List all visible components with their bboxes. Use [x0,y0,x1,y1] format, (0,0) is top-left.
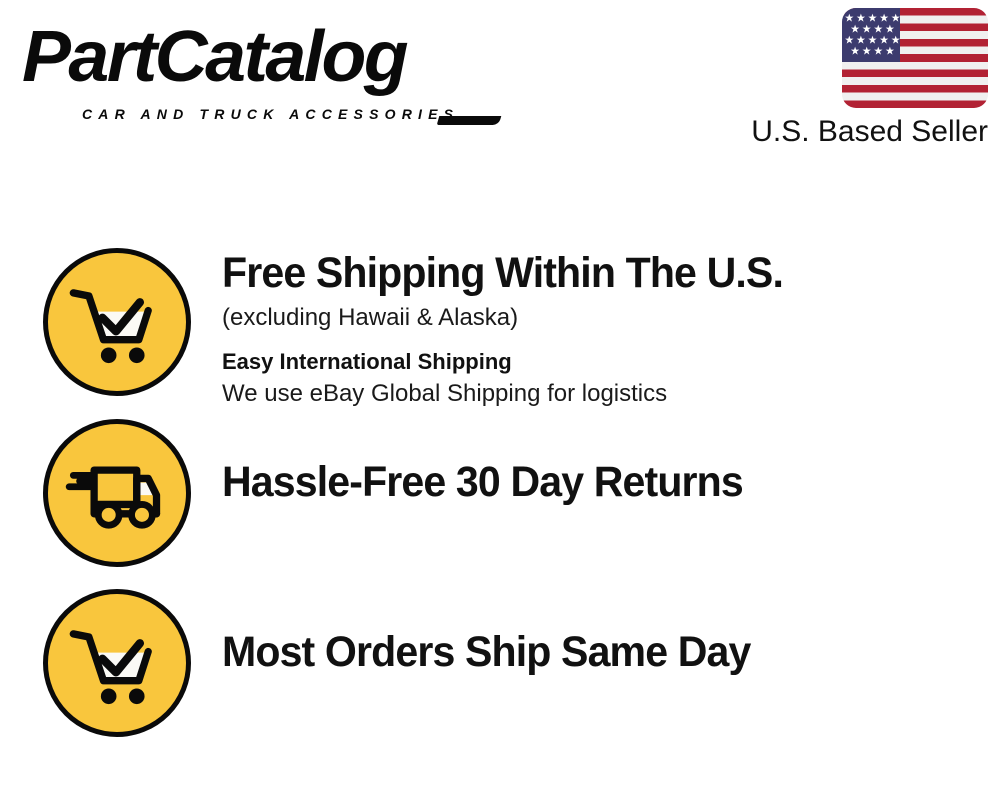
benefit-row: Free Shipping Within The U.S. (excluding… [0,248,1000,420]
benefit-headline: Free Shipping Within The U.S. [222,248,929,298]
benefit-extra-title: Easy International Shipping [222,347,962,377]
benefit-headline: Hassle-Free 30 Day Returns [222,457,929,507]
delivery-truck-icon [43,419,191,567]
logo-swash-decoration [437,116,502,125]
brand-wordmark: PartCatalog [22,14,406,100]
benefit-extra-text: We use eBay Global Shipping for logistic… [222,378,962,409]
benefit-text-block: Hassle-Free 30 Day Returns [222,457,962,507]
benefit-subline: (excluding Hawaii & Alaska) [222,302,962,334]
benefit-row: Hassle-Free 30 Day Returns [0,419,1000,591]
us-based-seller-label: U.S. Based Seller [718,114,988,150]
shopping-cart-check-icon [43,248,191,396]
flag-stars [842,8,900,62]
banner-header: PartCatalog CAR AND TRUCK ACCESSORIES [0,0,1000,170]
benefit-row: Most Orders Ship Same Day [0,589,1000,761]
brand-tagline: CAR AND TRUCK ACCESSORIES [82,106,459,122]
benefit-headline: Most Orders Ship Same Day [222,627,929,677]
us-flag-icon [842,8,988,108]
benefit-text-block: Free Shipping Within The U.S. (excluding… [222,248,962,409]
shopping-cart-check-icon [43,589,191,737]
brand-logo: PartCatalog CAR AND TRUCK ACCESSORIES [22,18,492,118]
us-based-seller-block: U.S. Based Seller [718,8,988,150]
benefit-text-block: Most Orders Ship Same Day [222,627,962,677]
